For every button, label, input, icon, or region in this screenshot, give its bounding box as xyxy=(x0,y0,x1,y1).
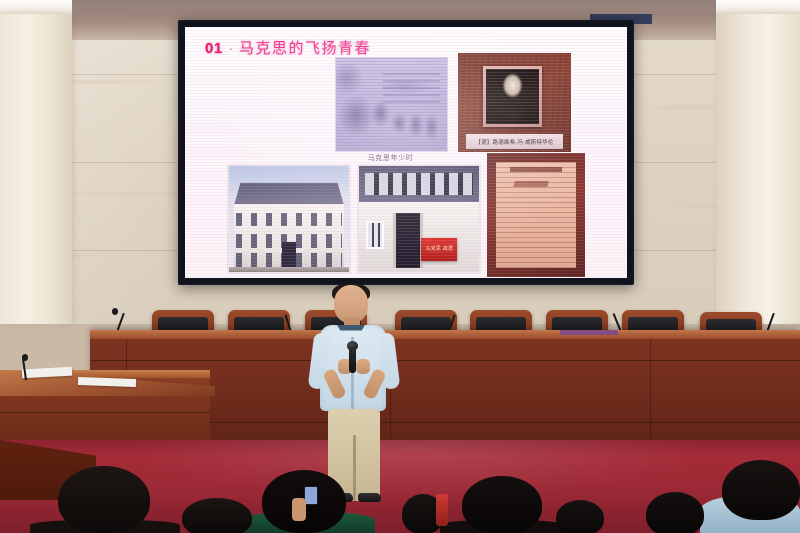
water-bottle xyxy=(436,494,448,526)
rostrum-top-surface xyxy=(90,330,800,339)
diploma-name xyxy=(513,181,548,187)
audience-head xyxy=(722,460,800,520)
audience-head xyxy=(646,492,704,533)
rostrum-panel-line xyxy=(90,360,800,361)
slide-title-text: 马克思的飞扬青春 xyxy=(239,37,371,58)
handheld-microphone-body xyxy=(349,347,356,373)
smartphone-screen xyxy=(305,487,317,504)
residence-red-sign: 马克思 故居 xyxy=(421,238,457,261)
portrait-ornate-frame xyxy=(483,66,542,127)
presenter-hand-right xyxy=(356,359,370,374)
presenter-shoe-right xyxy=(358,493,381,502)
smartphone xyxy=(304,486,318,505)
caption-marx-youth: 马克思年少时 xyxy=(335,153,446,163)
audience-hand xyxy=(292,498,306,521)
projection-screen: 01 · 马克思的飞扬青春 马克思年少时 【德】路德维希·冯·威斯特华伦 xyxy=(185,27,627,278)
residence-window xyxy=(366,221,384,249)
portrait-photo xyxy=(486,69,539,124)
rostrum-panel-seam xyxy=(650,339,651,448)
residence-upper-windows xyxy=(365,173,473,194)
wall-pillar-left xyxy=(0,14,72,324)
audience-head xyxy=(58,466,150,533)
rostrum-folder xyxy=(560,330,618,335)
slide-image-marx-youth-engraving xyxy=(335,57,448,152)
portrait-name-plate: 【德】路德维希·冯·威斯特华伦 xyxy=(466,134,563,149)
desk-microphone-head xyxy=(112,308,118,315)
slide-image-westphalen-portrait: 【德】路德维希·冯·威斯特华伦 xyxy=(458,53,571,152)
building-window-row xyxy=(236,213,342,227)
slide-title-number: 01 xyxy=(205,40,223,57)
wall-pillar-right xyxy=(716,14,800,324)
slide-title-separator: · xyxy=(229,41,233,56)
slide-image-marx-residence: 马克思 故居 xyxy=(357,164,481,274)
projection-screen-frame: 01 · 马克思的飞扬青春 马克思年少时 【德】路德维希·冯·威斯特华伦 xyxy=(178,20,634,285)
slide-image-marx-birthplace xyxy=(227,164,351,274)
diploma-header xyxy=(510,167,561,171)
slide-title: 01 · 马克思的飞扬青春 xyxy=(205,37,371,58)
presenter xyxy=(306,285,402,500)
diploma-paper xyxy=(496,162,576,268)
audience-head xyxy=(462,476,542,533)
front-desk-microphone-head xyxy=(22,354,28,361)
slide-image-marx-diploma xyxy=(487,153,585,277)
building-roof xyxy=(234,181,344,206)
building-base xyxy=(229,267,349,272)
audience-head xyxy=(556,500,604,533)
lecture-hall-photo: 01 · 马克思的飞扬青春 马克思年少时 【德】路德维希·冯·威斯特华伦 xyxy=(0,0,800,533)
front-desk-panel-line xyxy=(0,412,210,413)
presenter-trouser-seam xyxy=(353,435,356,501)
caption-marx-residence: 马克思的住所 xyxy=(325,277,485,278)
portrait-name-plate-text: 【德】路德维希·冯·威斯特华伦 xyxy=(475,138,553,146)
residence-door xyxy=(393,213,423,268)
diploma-handwriting-lines xyxy=(496,162,576,268)
audience-head xyxy=(182,498,252,533)
engraving-blackboard xyxy=(383,73,441,105)
